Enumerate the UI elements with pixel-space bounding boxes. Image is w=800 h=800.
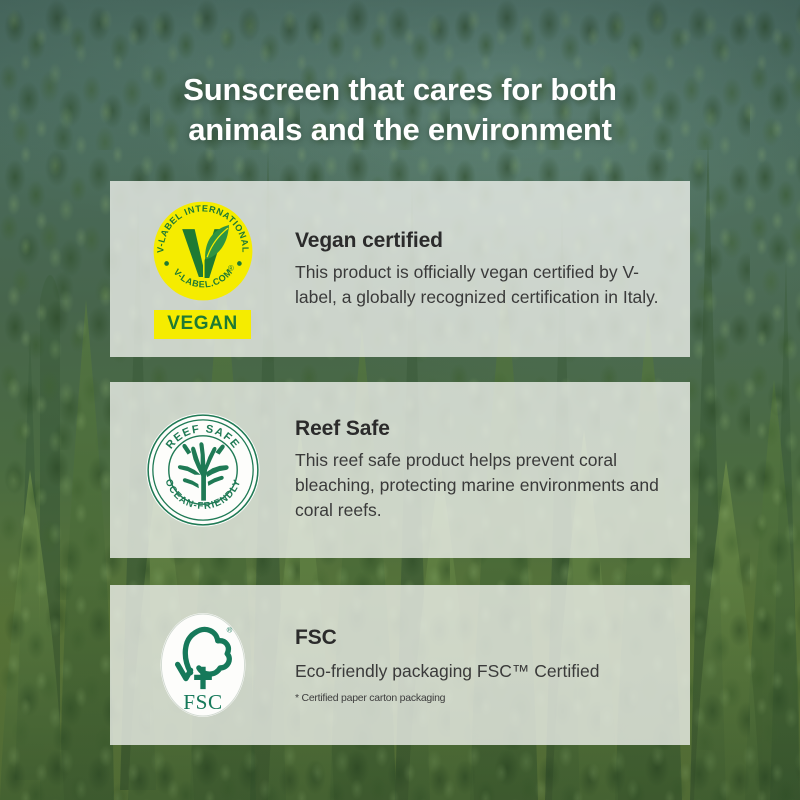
v-label-vegan-badge: ® V-LABEL INTERNATIONAL V-LABEL.COM VEGA… [151,199,255,339]
fsc-registered-mark: ® [226,626,232,635]
card-text-column: Reef Safe This reef safe product helps p… [295,417,690,523]
card-text-column: FSC Eco-friendly packaging FSC™ Certifie… [295,626,625,704]
page-title: Sunscreen that cares for both animals an… [0,70,800,149]
badge-column: ® FSC [110,603,295,727]
card-text-column: Vegan certified This product is official… [295,229,690,310]
fsc-badge-icon: ® FSC [147,603,259,727]
badge-column: REEF SAFE OCEAN-FRIENDLY [110,411,295,529]
card-title: Reef Safe [295,417,664,441]
certification-card-vegan: ® V-LABEL INTERNATIONAL V-LABEL.COM VEGA… [110,181,690,357]
reef-safe-badge-icon: REEF SAFE OCEAN-FRIENDLY [144,411,262,529]
card-footnote: * Certified paper carton packaging [295,692,599,704]
card-body: Eco-friendly packaging FSC™ Certified [295,659,599,684]
v-label-seal-icon: ® V-LABEL INTERNATIONAL V-LABEL.COM [151,199,255,303]
page-title-line-2: animals and the environment [0,110,800,150]
fsc-wordmark: FSC [183,690,223,714]
page-title-line-1: Sunscreen that cares for both [0,70,800,110]
certification-card-fsc: ® FSC FSC Eco-friendly packaging FSC™ Ce… [110,585,690,745]
card-title: FSC [295,626,599,650]
promo-graphic: Sunscreen that cares for both animals an… [0,0,800,800]
card-body: This reef safe product helps prevent cor… [295,448,664,523]
badge-column: ® V-LABEL INTERNATIONAL V-LABEL.COM VEGA… [110,199,295,339]
card-body: This product is officially vegan certifi… [295,260,664,310]
card-title: Vegan certified [295,229,664,253]
vegan-tag: VEGAN [154,310,251,339]
certification-card-reef-safe: REEF SAFE OCEAN-FRIENDLY Reef Safe This … [110,382,690,558]
